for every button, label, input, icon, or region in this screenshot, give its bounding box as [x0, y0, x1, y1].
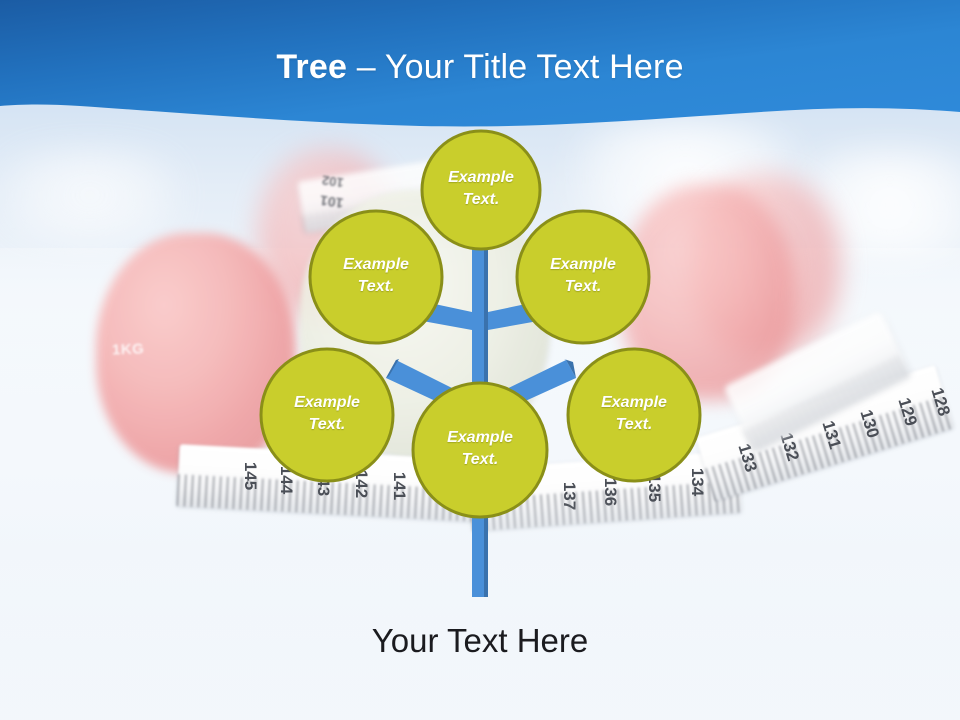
- node-bottom-center-circle[interactable]: [413, 383, 547, 517]
- tree-diagram: [0, 0, 960, 720]
- node-mid-right-circle[interactable]: [517, 211, 649, 343]
- node-bottom-left-circle[interactable]: [261, 349, 393, 481]
- node-mid-left-circle[interactable]: [310, 211, 442, 343]
- node-bottom-right-circle[interactable]: [568, 349, 700, 481]
- slide-canvas: 1KG 102 101 145 144 143 142 141 137 136 …: [0, 0, 960, 720]
- node-top-circle[interactable]: [422, 131, 540, 249]
- bottom-caption: Your Text Here: [0, 622, 960, 660]
